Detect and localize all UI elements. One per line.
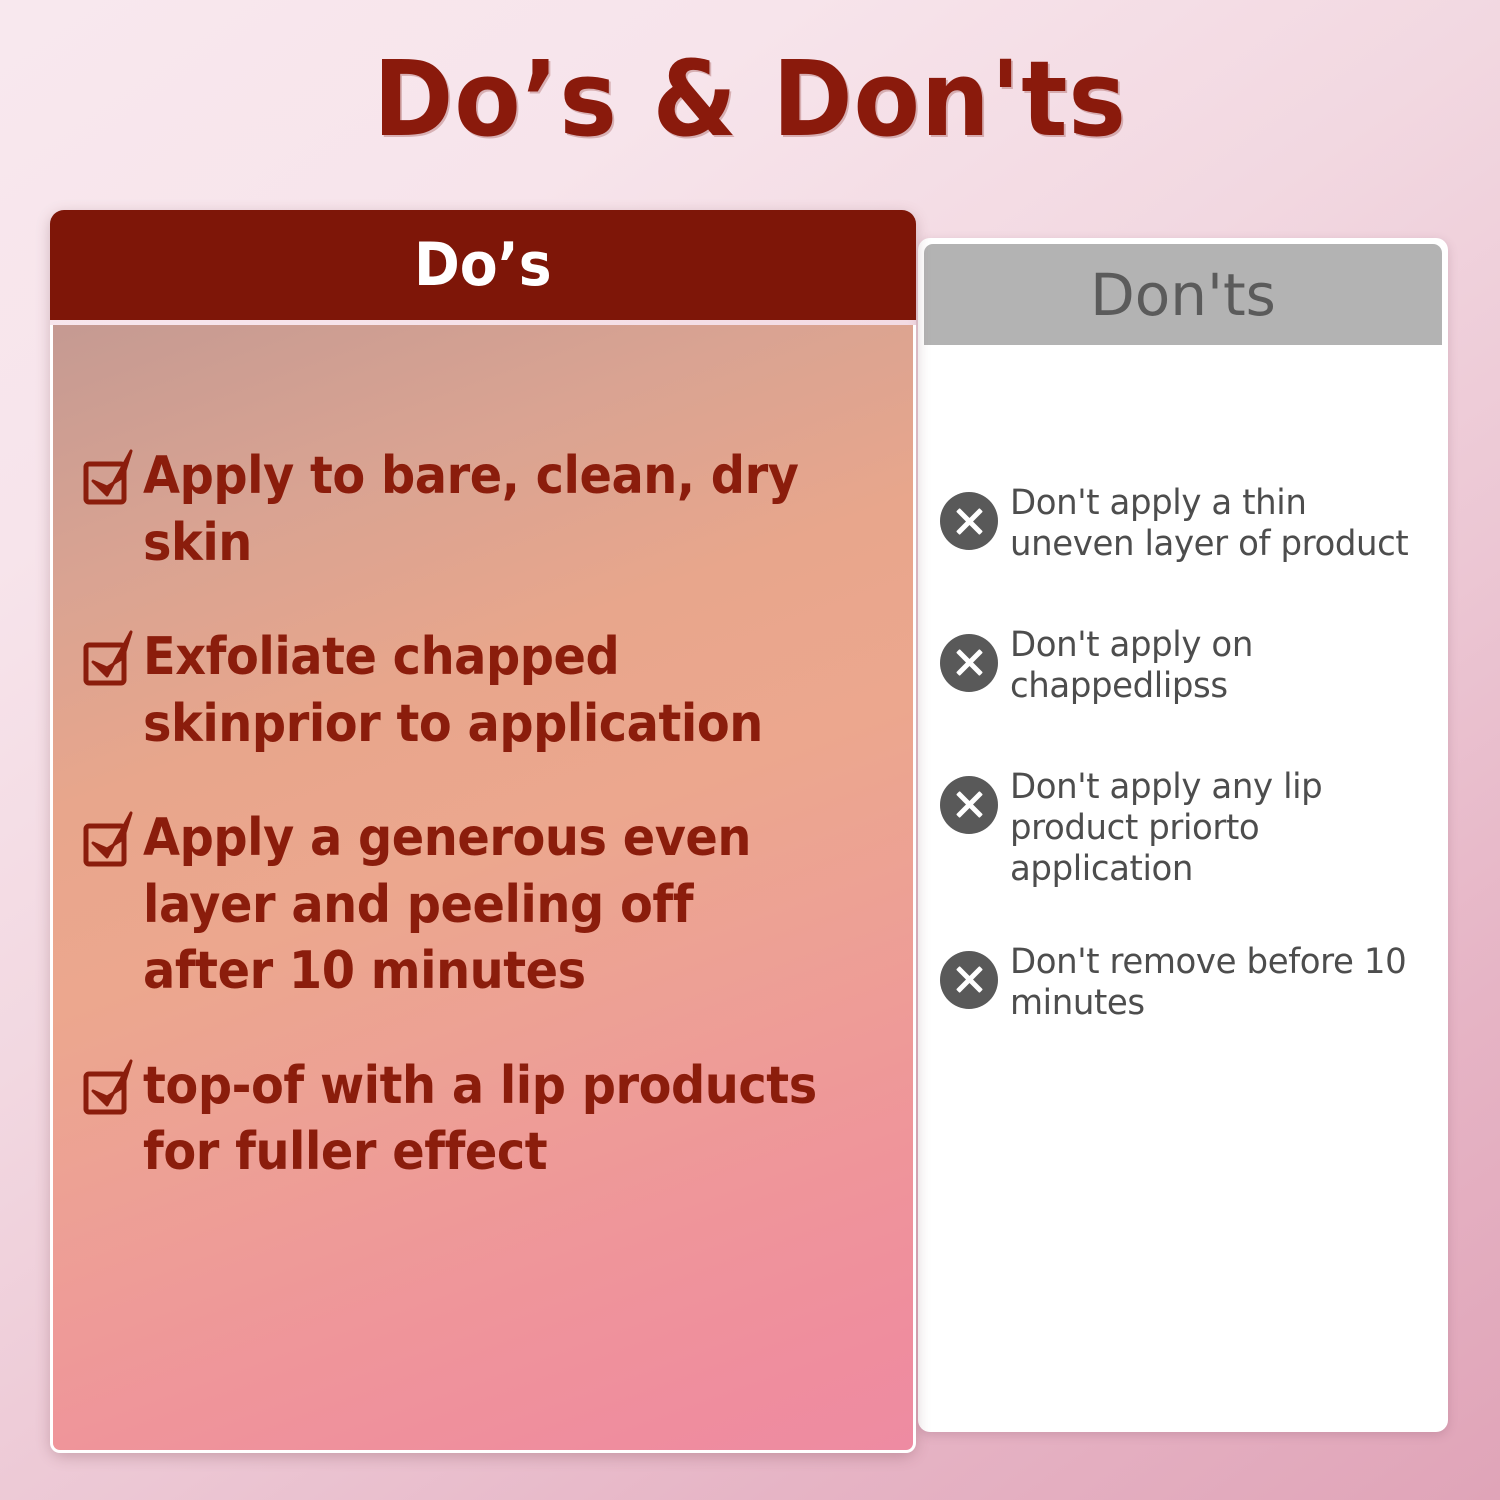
donts-panel-header-label: Don'ts xyxy=(1090,266,1276,324)
donts-list: Don't apply a thin uneven layer of produ… xyxy=(918,345,1448,1083)
list-item-label: Apply to bare, clean, dry skin xyxy=(143,443,833,576)
checkbox-checked-icon xyxy=(83,1057,139,1117)
list-item: Exfoliate chapped skinprior to applicati… xyxy=(53,624,913,757)
list-item-label: top-of with a lip products for fuller ef… xyxy=(143,1053,833,1186)
list-item-label: Apply a generous even layer and peeling … xyxy=(143,805,833,1005)
list-item: Don't apply a thin uneven layer of produ… xyxy=(918,483,1448,565)
donts-panel-header: Don'ts xyxy=(924,244,1442,345)
infographic-page: Do’s & Don'ts Don'ts Don't apply a thin … xyxy=(0,0,1500,1500)
circle-x-icon xyxy=(940,634,998,692)
dos-panel: Do’s Apply to bare, clean, dry skin xyxy=(50,210,916,1453)
dos-panel-body: Apply to bare, clean, dry skin Exfoliate… xyxy=(50,325,916,1453)
circle-x-icon xyxy=(940,492,998,550)
list-item: Don't remove before 10 minutes xyxy=(918,942,1448,1024)
list-item: Apply to bare, clean, dry skin xyxy=(53,443,913,576)
dos-panel-header-label: Do’s xyxy=(414,235,552,295)
list-item: top-of with a lip products for fuller ef… xyxy=(53,1053,913,1186)
donts-panel: Don'ts Don't apply a thin uneven layer o… xyxy=(918,238,1448,1432)
checkbox-checked-icon xyxy=(83,809,139,869)
checkbox-checked-icon xyxy=(83,628,139,688)
list-item: Don't apply any lip product priorto appl… xyxy=(918,767,1448,890)
dos-panel-header: Do’s xyxy=(50,210,916,320)
circle-x-icon xyxy=(940,951,998,1009)
list-item-label: Don't apply any lip product priorto appl… xyxy=(1010,767,1410,890)
checkbox-checked-icon xyxy=(83,447,139,507)
list-item: Apply a generous even layer and peeling … xyxy=(53,805,913,1005)
dos-list: Apply to bare, clean, dry skin Exfoliate… xyxy=(53,443,913,1186)
list-item-label: Don't remove before 10 minutes xyxy=(1010,942,1410,1024)
list-item: Don't apply on chappedlipss xyxy=(918,625,1448,707)
page-title: Do’s & Don'ts xyxy=(53,42,1448,156)
list-item-label: Exfoliate chapped skinprior to applicati… xyxy=(143,624,833,757)
circle-x-icon xyxy=(940,776,998,834)
list-item-label: Don't apply on chappedlipss xyxy=(1010,625,1410,707)
list-item-label: Don't apply a thin uneven layer of produ… xyxy=(1010,483,1410,565)
